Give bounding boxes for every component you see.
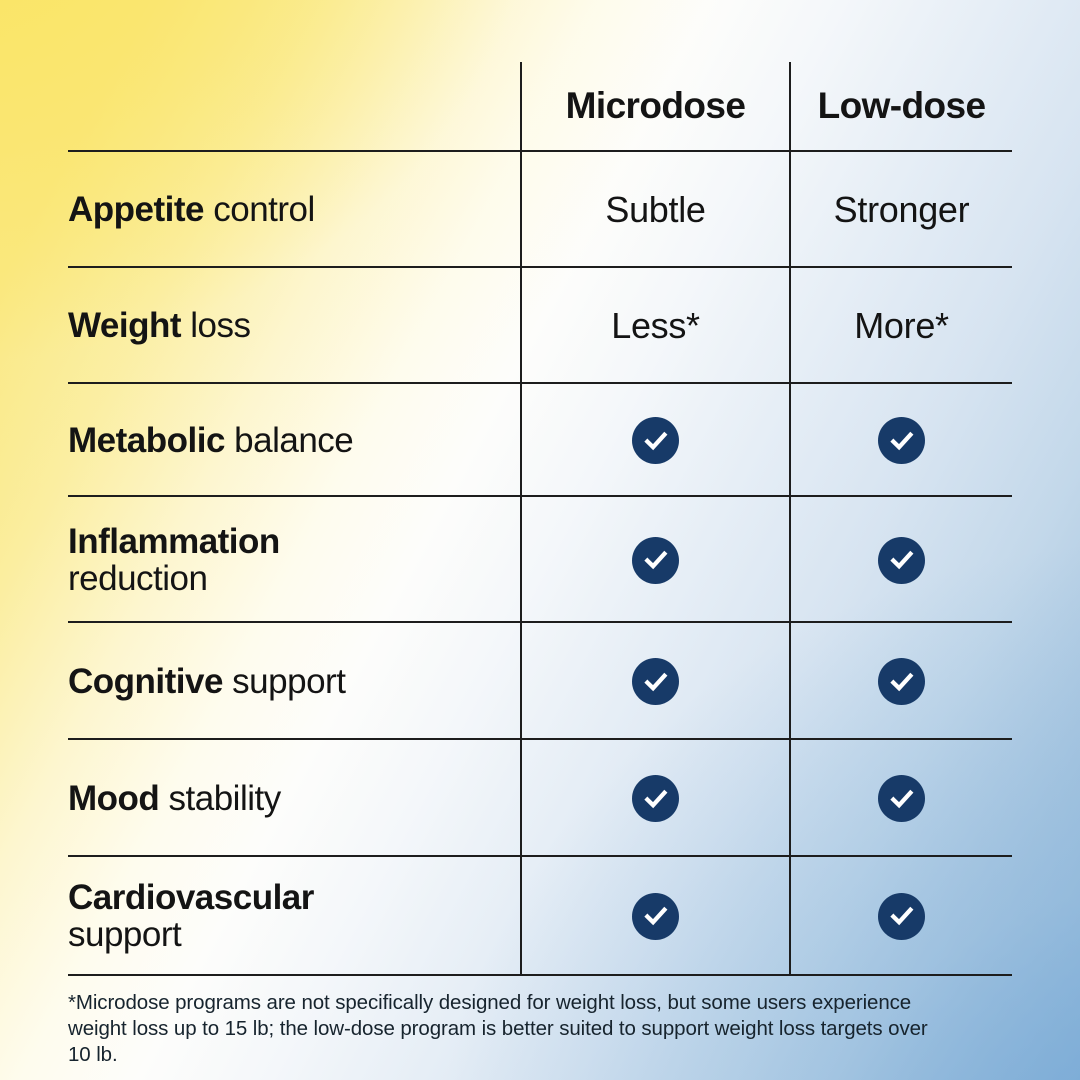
row-label-rest: loss [181, 306, 250, 345]
row-label-lead: Appetite [68, 190, 204, 229]
cell-lowdose [791, 384, 1012, 497]
cell-microdose: Subtle [522, 152, 789, 268]
check-icon [632, 417, 679, 464]
row-label-rest: stability [159, 779, 280, 818]
check-icon [878, 658, 925, 705]
comparison-table: Microdose Low-dose Appetite controlSubtl… [0, 0, 1080, 1080]
row-label-lead: Mood [68, 779, 159, 818]
cell-microdose [522, 857, 789, 975]
row-label-rest: support [68, 915, 181, 954]
row-label-rest: support [223, 662, 345, 701]
check-icon [878, 775, 925, 822]
row-label-lead: Cognitive [68, 662, 223, 701]
row-label: Inflammation reduction [68, 497, 508, 623]
comparison-table-graphic: Microdose Low-dose Appetite controlSubtl… [0, 0, 1080, 1080]
column-header-lowdose: Low-dose [791, 62, 1012, 150]
cell-lowdose [791, 740, 1012, 857]
row-label: Cognitive support [68, 623, 508, 740]
table-row: Inflammation reduction [0, 497, 1080, 623]
cell-microdose [522, 740, 789, 857]
cell-lowdose [791, 497, 1012, 623]
table-row: Appetite controlSubtleStronger [0, 152, 1080, 268]
cell-lowdose: More* [791, 268, 1012, 384]
row-label-lead: Cardiovascular [68, 878, 314, 917]
table-row: Mood stability [0, 740, 1080, 857]
cell-microdose [522, 384, 789, 497]
cell-lowdose: Stronger [791, 152, 1012, 268]
row-label-rest: balance [225, 421, 353, 460]
table-row: Weight lossLess*More* [0, 268, 1080, 384]
row-label: Weight loss [68, 268, 508, 384]
column-header-microdose: Microdose [522, 62, 789, 150]
footnote-text: *Microdose programs are not specifically… [68, 990, 948, 1067]
row-label: Metabolic balance [68, 384, 508, 497]
cell-microdose [522, 497, 789, 623]
check-icon [878, 417, 925, 464]
table-row: Metabolic balance [0, 384, 1080, 497]
row-label: Appetite control [68, 152, 508, 268]
table-row: Cardiovascular support [0, 857, 1080, 975]
cell-microdose [522, 623, 789, 740]
row-label-rest: reduction [68, 559, 207, 598]
row-label: Cardiovascular support [68, 857, 508, 975]
cell-lowdose [791, 857, 1012, 975]
row-label: Mood stability [68, 740, 508, 857]
check-icon [632, 658, 679, 705]
row-label-lead: Inflammation [68, 522, 280, 561]
row-label-lead: Weight [68, 306, 181, 345]
check-icon [632, 893, 679, 940]
row-label-lead: Metabolic [68, 421, 225, 460]
cell-microdose: Less* [522, 268, 789, 384]
table-row: Cognitive support [0, 623, 1080, 740]
check-icon [632, 537, 679, 584]
check-icon [878, 893, 925, 940]
cell-lowdose [791, 623, 1012, 740]
check-icon [632, 775, 679, 822]
check-icon [878, 537, 925, 584]
row-label-rest: control [204, 190, 315, 229]
